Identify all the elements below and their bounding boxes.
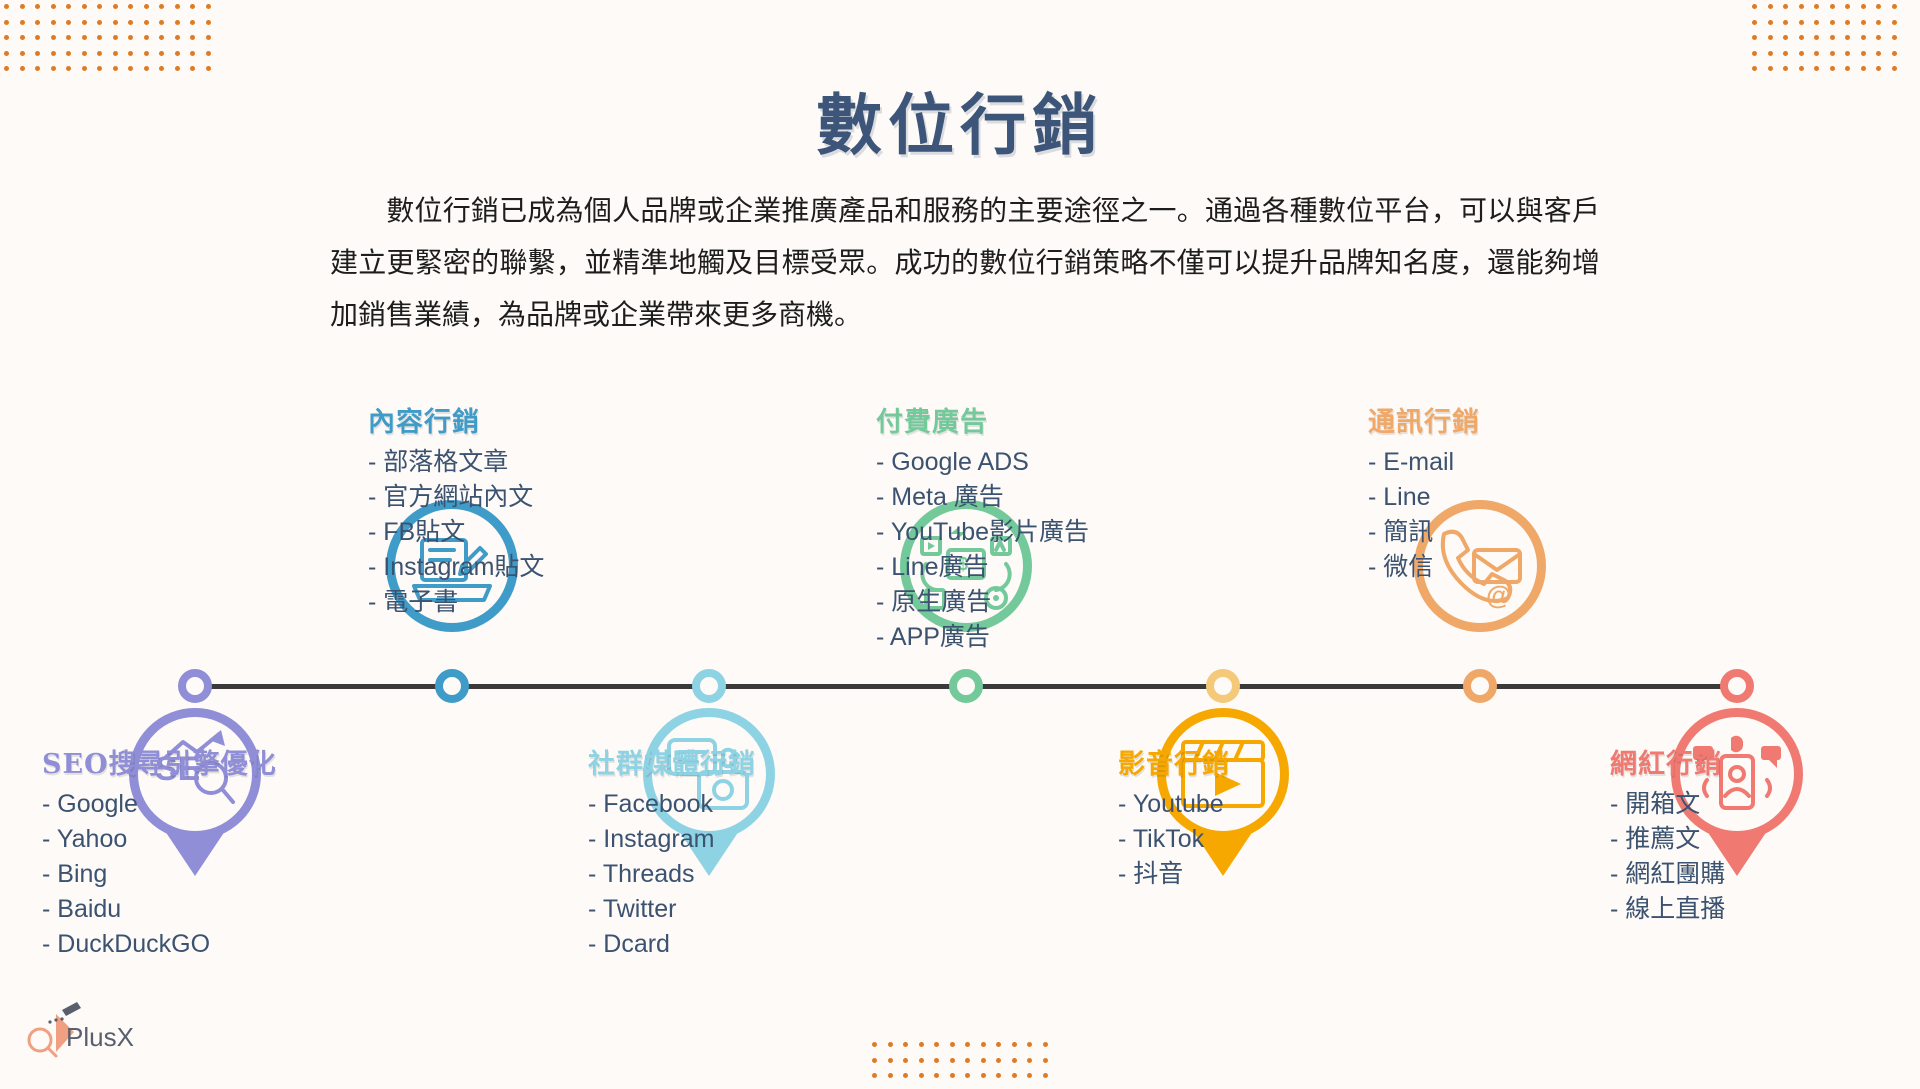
section-list-social: - Facebook- Instagram- Threads- Twitter-… [588, 787, 756, 962]
list-item: - 開箱文 [1610, 787, 1725, 822]
infographic-canvas: 數位行銷 數位行銷已成為個人品牌或企業推廣產品和服務的主要途徑之一。通過各種數位… [0, 0, 1920, 1080]
section-heading-influencer: 網紅行銷 [1610, 742, 1725, 781]
section-messaging: 通訊行銷- E-mail- Line- 簡訊- 微信 [1368, 400, 1480, 585]
list-item: - 部落格文章 [368, 445, 544, 480]
timeline-node-paid[interactable] [949, 669, 983, 703]
timeline-node-messaging[interactable] [1463, 669, 1497, 703]
section-video: 影音行銷- Youtube- TikTok- 抖音 [1118, 742, 1230, 892]
timeline-node-video[interactable] [1206, 669, 1240, 703]
list-item: - Dcard [588, 927, 756, 962]
section-heading-content: 內容行銷 [368, 400, 544, 439]
intro-line-1: 數位行銷已成為個人品牌或企業推廣產品和服務的主要途徑之一。通過各種數位 [386, 194, 1374, 227]
list-item: - DuckDuckGO [42, 927, 277, 962]
timeline-node-social[interactable] [692, 669, 726, 703]
list-item: - 線上直播 [1610, 892, 1725, 927]
section-heading-video: 影音行銷 [1118, 742, 1230, 781]
list-item: - Threads [588, 857, 756, 892]
list-item: - Instagram [588, 822, 756, 857]
section-content: 內容行銷- 部落格文章- 官方網站內文- FB貼文- Instagram貼文- … [368, 400, 544, 620]
list-item: - Google [42, 787, 277, 822]
list-item: - TikTok [1118, 822, 1230, 857]
svg-text:@: @ [1486, 580, 1511, 610]
dot-grid-top-left [4, 4, 221, 82]
list-item: - 原生廣告 [876, 585, 1089, 620]
list-item: - Line廣告 [876, 550, 1089, 585]
list-item: - 官方網站內文 [368, 480, 544, 515]
section-influencer: 網紅行銷- 開箱文- 推薦文- 網紅團購- 線上直播 [1610, 742, 1725, 927]
section-list-video: - Youtube- TikTok- 抖音 [1118, 787, 1230, 892]
dot-grid-bottom-center [872, 1042, 1058, 1089]
list-item: - 抖音 [1118, 857, 1230, 892]
list-item: - Line [1368, 480, 1480, 515]
list-item: - Twitter [588, 892, 756, 927]
page-title: 數位行銷 [0, 72, 1920, 168]
section-seo: SEO搜尋引擎優化- Google- Yahoo- Bing- Baidu- D… [42, 742, 277, 962]
list-item: - Meta 廣告 [876, 480, 1089, 515]
section-paid: 付費廣告- Google ADS- Meta 廣告- YouTube影片廣告- … [876, 400, 1089, 655]
list-item: - 微信 [1368, 550, 1480, 585]
list-item: - Bing [42, 857, 277, 892]
timeline-node-content[interactable] [435, 669, 469, 703]
section-heading-messaging: 通訊行銷 [1368, 400, 1480, 439]
logo-label: PlusX [66, 1022, 134, 1053]
timeline-node-seo[interactable] [178, 669, 212, 703]
section-social: 社群媒體行銷- Facebook- Instagram- Threads- Tw… [588, 742, 756, 962]
plusx-logo: PlusX [22, 1000, 172, 1062]
list-item: - Youtube [1118, 787, 1230, 822]
list-item: - YouTube影片廣告 [876, 515, 1089, 550]
list-item: - 電子書 [368, 585, 544, 620]
section-list-seo: - Google- Yahoo- Bing- Baidu- DuckDuckGO [42, 787, 277, 962]
list-item: - 推薦文 [1610, 822, 1725, 857]
timeline-node-influencer[interactable] [1720, 669, 1754, 703]
section-heading-social: 社群媒體行銷 [588, 742, 756, 781]
list-item: - Baidu [42, 892, 277, 927]
list-item: - Google ADS [876, 445, 1089, 480]
list-item: - 簡訊 [1368, 515, 1480, 550]
dot-grid-top-right [1752, 4, 1907, 82]
intro-paragraph: 數位行銷已成為個人品牌或企業推廣產品和服務的主要途徑之一。通過各種數位平台，可以… [330, 185, 1600, 341]
section-list-content: - 部落格文章- 官方網站內文- FB貼文- Instagram貼文- 電子書 [368, 445, 544, 620]
list-item: - 網紅團購 [1610, 857, 1725, 892]
section-list-messaging: - E-mail- Line- 簡訊- 微信 [1368, 445, 1480, 585]
list-item: - Yahoo [42, 822, 277, 857]
section-list-influencer: - 開箱文- 推薦文- 網紅團購- 線上直播 [1610, 787, 1725, 927]
list-item: - Instagram貼文 [368, 550, 544, 585]
section-heading-seo: SEO搜尋引擎優化 [42, 742, 277, 781]
list-item: - FB貼文 [368, 515, 544, 550]
list-item: - Facebook [588, 787, 756, 822]
list-item: - E-mail [1368, 445, 1480, 480]
section-list-paid: - Google ADS- Meta 廣告- YouTube影片廣告- Line… [876, 445, 1089, 655]
list-item: - APP廣告 [876, 620, 1089, 655]
section-heading-paid: 付費廣告 [876, 400, 1089, 439]
